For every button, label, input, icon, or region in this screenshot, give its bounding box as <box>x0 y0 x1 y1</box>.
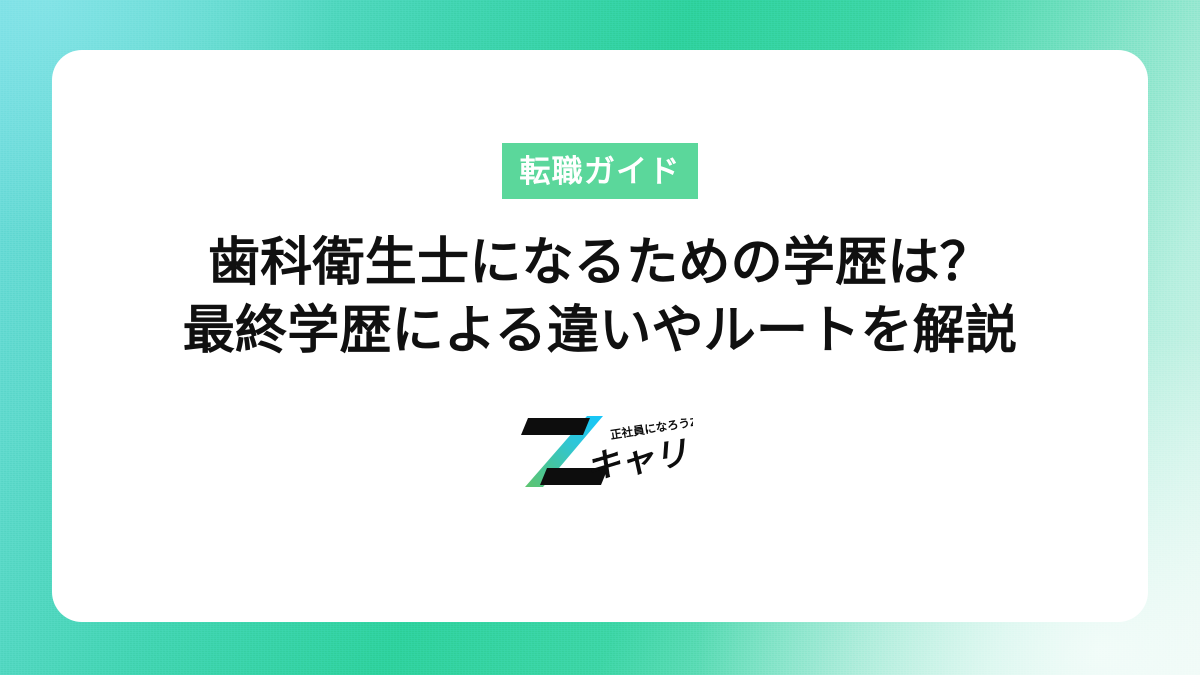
category-badge: 転職ガイド <box>502 143 697 199</box>
page-title: 歯科衛生士になるための学歴は？ 最終学歴による違いやルートを解説 <box>183 230 1018 365</box>
brand-logo: 正社員になろうZ! キャリア <box>507 413 693 493</box>
z-career-logo-icon: 正社員になろうZ! キャリア <box>507 413 693 493</box>
page-title-line-1: 歯科衛生士になるための学歴は？ <box>183 230 1018 298</box>
logo-brand-name: キャリア <box>587 429 693 487</box>
page-title-line-2: 最終学歴による違いやルートを解説 <box>183 298 1018 366</box>
content-card: 転職ガイド 歯科衛生士になるための学歴は？ 最終学歴による違いやルートを解説 正… <box>52 50 1148 622</box>
